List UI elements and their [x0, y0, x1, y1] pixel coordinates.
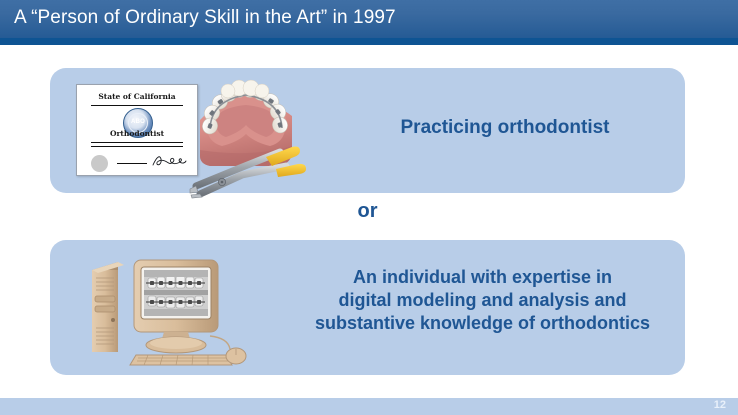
panel-top-label: Practicing orthodontist	[340, 116, 670, 140]
panel-bottom-line-1: An individual with expertise in	[295, 266, 670, 289]
certificate-divider-mid2	[91, 146, 183, 147]
certificate-divider-mid	[91, 142, 183, 143]
slide-number: 12	[714, 399, 726, 411]
certificate-divider-top	[91, 105, 183, 106]
panel-bottom-line-2: digital modeling and analysis and	[295, 289, 670, 312]
panel-bottom-label: An individual with expertise in digital …	[295, 266, 670, 335]
certificate-stamp-icon	[91, 155, 108, 172]
panel-bottom-line-3: substantive knowledge of orthodontics	[295, 312, 670, 335]
panel-individual-with-expertise: An individual with expertise in digital …	[50, 240, 685, 375]
certificate-signature-line	[117, 163, 147, 164]
panel-practicing-orthodontist: State of California Orthodontist	[50, 68, 685, 193]
orthodontic-pliers-icon	[188, 142, 308, 200]
page-title: A “Person of Ordinary Skill in the Art” …	[14, 7, 396, 29]
slide-footer-bar	[0, 398, 738, 415]
certificate-title: State of California	[77, 92, 197, 101]
desktop-computer-icon	[78, 252, 268, 367]
orthodontist-certificate: State of California Orthodontist	[76, 84, 198, 176]
slide-header-accent-rule	[0, 38, 738, 45]
certificate-subtitle: Orthodontist	[77, 129, 197, 138]
or-divider-label: or	[50, 200, 685, 223]
